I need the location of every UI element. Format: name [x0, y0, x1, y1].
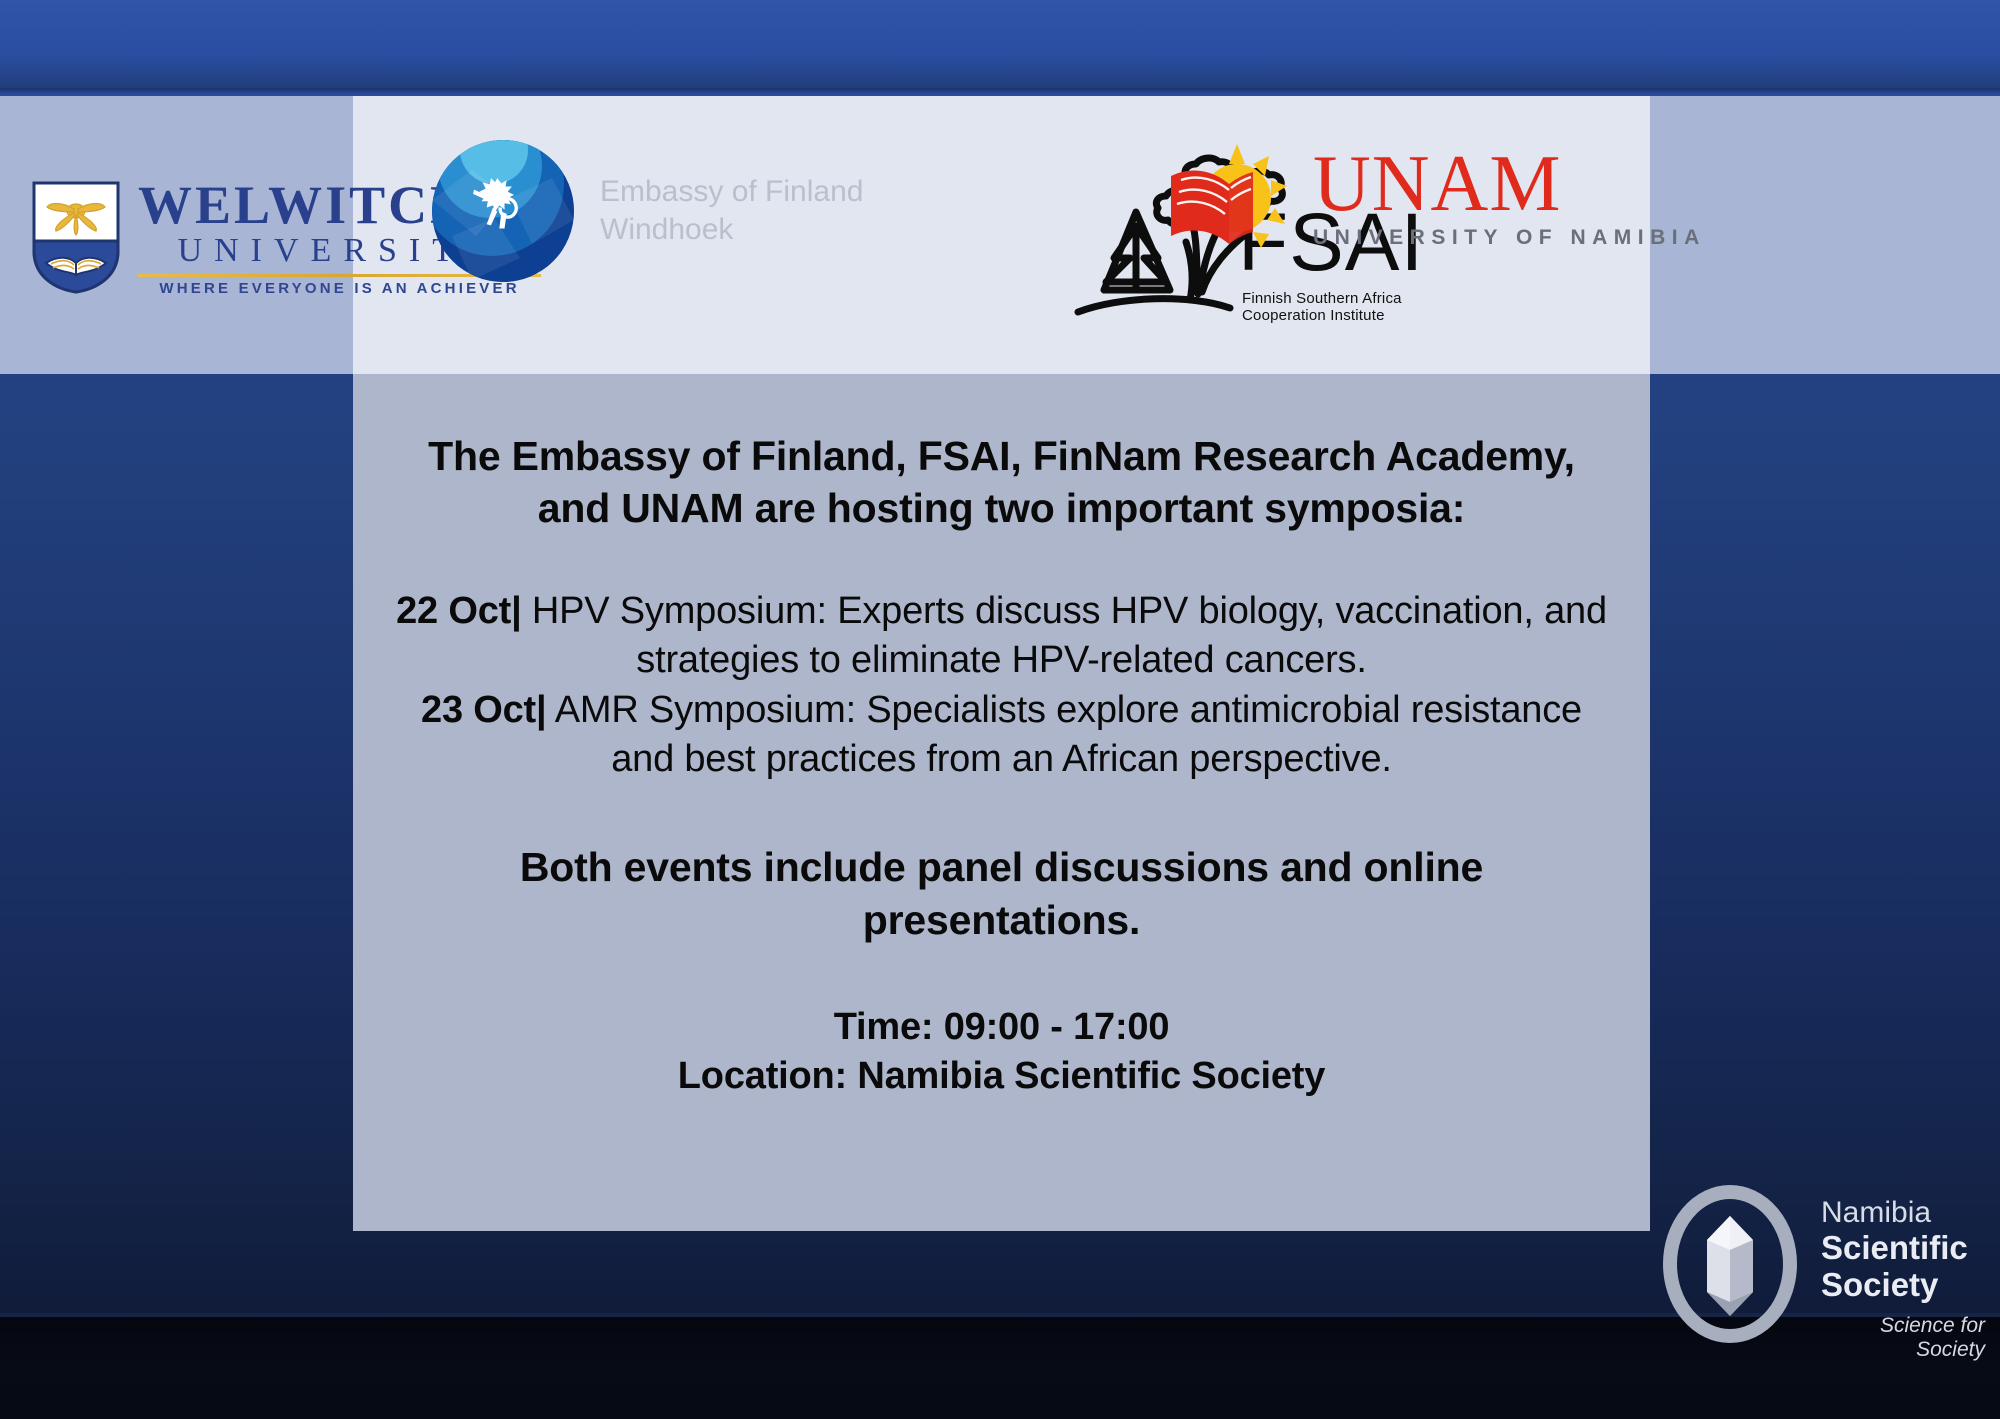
symposium-separator: |	[536, 689, 546, 731]
symposium-item: 22 Oct| HPV Symposium: Experts discuss H…	[391, 587, 1612, 686]
announcement-panel: The Embassy of Finland, FSAI, FinNam Res…	[353, 374, 1650, 1231]
symposium-description: AMR Symposium: Specialists explore antim…	[555, 689, 1582, 780]
symposium-date: 23 Oct	[421, 689, 536, 731]
nss-line-2: Scientific	[1821, 1230, 1985, 1267]
finland-wordmark: Embassy of Finland Windhoek	[600, 173, 863, 250]
symposium-separator: |	[511, 590, 521, 632]
finland-line-2: Windhoek	[600, 211, 863, 249]
unam-subtitle: UNIVERSITY OF NAMIBIA	[1313, 226, 1706, 250]
event-location: Location: Namibia Scientific Society	[383, 1052, 1620, 1101]
finland-line-1: Embassy of Finland	[600, 173, 863, 211]
top-blue-band	[0, 0, 2000, 96]
nss-crystal-ring-icon	[1655, 1180, 1805, 1348]
welwitchia-shield-icon	[30, 179, 122, 295]
fsai-expansion: Finnish Southern Africa Cooperation Inst…	[1242, 290, 1430, 324]
embassy-of-finland-logo: Embassy of Finland Windhoek	[432, 140, 863, 282]
nss-tagline: Science for Society	[1821, 1314, 1985, 1362]
poster-canvas: WELWITCHIA UNIVERSITY WHERE EVERYONE IS …	[0, 0, 2000, 1419]
event-time: Time: 09:00 - 17:00	[383, 1003, 1620, 1052]
nss-line-1: Namibia	[1821, 1196, 1985, 1230]
symposium-description: HPV Symposium: Experts discuss HPV biolo…	[532, 590, 1607, 681]
unam-wordmark: UNAM UNIVERSITY OF NAMIBIA	[1313, 146, 1706, 250]
symposium-item: 23 Oct| AMR Symposium: Specialists explo…	[391, 686, 1612, 785]
nss-line-3: Society	[1821, 1267, 1985, 1304]
unam-logo: UNAM UNIVERSITY OF NAMIBIA	[1165, 140, 1706, 255]
welwitchia-tagline: WHERE EVERYONE IS AN ACHIEVER	[138, 281, 541, 296]
namibia-scientific-society-logo: Namibia Scientific Society Science for S…	[1655, 1180, 1985, 1360]
page-title: The Embassy of Finland, FSAI, FinNam Res…	[405, 430, 1598, 535]
symposia-list: 22 Oct| HPV Symposium: Experts discuss H…	[383, 587, 1620, 785]
event-meta: Time: 09:00 - 17:00 Location: Namibia Sc…	[383, 1003, 1620, 1102]
unam-book-sun-icon	[1165, 140, 1295, 255]
finland-globe-icon	[432, 140, 574, 282]
nss-wordmark: Namibia Scientific Society Science for S…	[1821, 1180, 1985, 1362]
events-note: Both events include panel discussions an…	[383, 841, 1620, 948]
symposium-date: 22 Oct	[396, 590, 511, 632]
unam-acronym: UNAM	[1313, 146, 1706, 222]
